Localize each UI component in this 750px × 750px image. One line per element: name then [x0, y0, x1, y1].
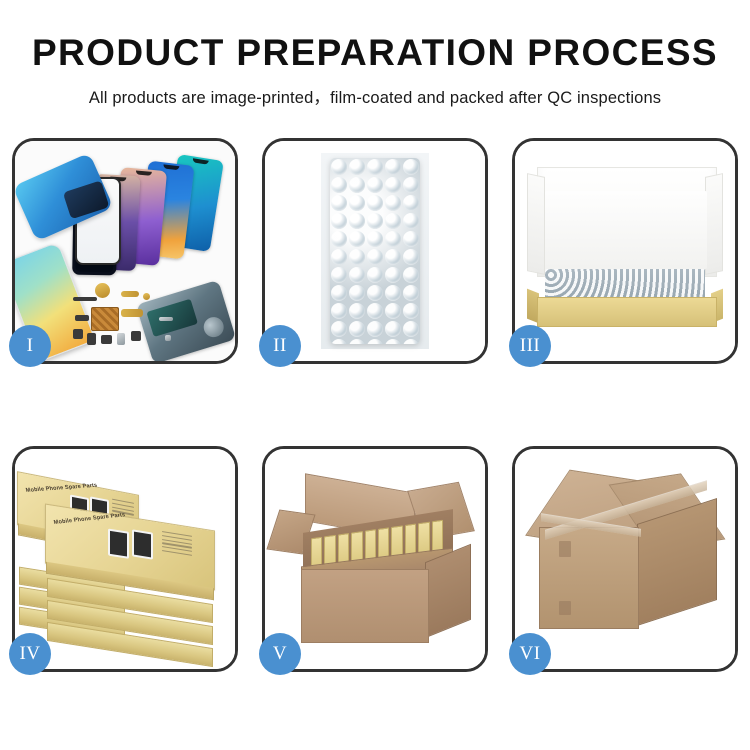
process-step-panel-4: Mobile Phone Spare Parts [12, 446, 238, 672]
bubble-cell [385, 321, 401, 337]
scene-open-carton [265, 449, 485, 669]
process-step-panel-5: V [262, 446, 488, 672]
bubble-cell [349, 249, 365, 265]
notch-icon [163, 164, 179, 170]
bubble-wrapped-contents [545, 269, 705, 299]
phone-thumbnail-icon [108, 529, 129, 559]
step-badge-6: VI [509, 633, 551, 675]
process-step-panel-1: I [12, 138, 238, 364]
bubble-cell [367, 285, 383, 301]
screw-part-icon [165, 335, 171, 341]
bubble-cell [367, 159, 383, 175]
bubble-cell [385, 213, 401, 229]
bubble-grid [330, 158, 420, 344]
bubble-cell [331, 177, 347, 193]
process-step-panel-3: III [512, 138, 738, 364]
speaker-mesh-icon [131, 331, 141, 341]
process-step-panel-2: II [262, 138, 488, 364]
bubble-cell [367, 177, 383, 193]
bubble-cell [331, 303, 347, 319]
scene-open-box [515, 141, 735, 361]
carton-tab-icon [559, 541, 571, 557]
bubble-cell [403, 195, 419, 211]
carton-tab-icon [559, 601, 571, 615]
bubble-cell [349, 285, 365, 301]
flex-cable-icon [121, 291, 139, 297]
bubble-cell [385, 231, 401, 247]
bubble-cell [403, 267, 419, 283]
bubble-cell [403, 321, 419, 337]
bubble-cell [403, 339, 419, 344]
bubble-cell [331, 267, 347, 283]
bubble-cell [385, 267, 401, 283]
box-spec-lines [162, 531, 192, 558]
bubble-cell [385, 285, 401, 301]
bubble-cell [331, 231, 347, 247]
chip-array-icon [91, 307, 119, 331]
box-base-front [537, 297, 717, 327]
speaker-part-icon [95, 283, 110, 298]
panel-image-1 [15, 141, 235, 361]
screw-part-icon [159, 317, 173, 321]
bubble-cell [367, 213, 383, 229]
panel-image-4: Mobile Phone Spare Parts [15, 449, 235, 669]
earpiece-part-icon [73, 297, 97, 301]
bubble-cell [331, 195, 347, 211]
retail-box-top-right: Mobile Phone Spare Parts [45, 504, 215, 591]
step-badge-4: IV [9, 633, 51, 675]
bubble-cell [385, 177, 401, 193]
bubble-cell [349, 267, 365, 283]
bubble-cell [403, 213, 419, 229]
bubble-cell [349, 159, 365, 175]
box-lid-flap-left [527, 173, 545, 275]
panel-image-5 [265, 449, 485, 669]
sim-tray-icon [117, 333, 125, 345]
bubble-cell [367, 267, 383, 283]
connector-part-icon [75, 315, 89, 321]
scene-bubble-wrap [265, 141, 485, 361]
bubble-cell [403, 285, 419, 301]
button-part-icon [143, 293, 150, 300]
panel-image-3 [515, 141, 735, 361]
bubble-cell [367, 249, 383, 265]
bubble-cell [331, 159, 347, 175]
infographic-page: PRODUCT PREPARATION PROCESS All products… [0, 0, 750, 750]
bubble-cell [403, 249, 419, 265]
bubble-cell [367, 231, 383, 247]
camera-part-icon [73, 329, 83, 339]
notch-icon [192, 158, 208, 164]
scene-stacked-boxes: Mobile Phone Spare Parts [15, 449, 235, 669]
bubble-cell [331, 321, 347, 337]
bubble-cell [385, 339, 401, 344]
page-subtitle: All products are image-printed，film-coat… [0, 75, 750, 108]
bubble-cell [403, 303, 419, 319]
panel-image-6 [515, 449, 735, 669]
bubble-cell [349, 177, 365, 193]
phone-thumbnail-icon [132, 529, 153, 559]
notch-icon [136, 170, 152, 175]
bubble-cell [385, 303, 401, 319]
foam-insert [545, 191, 707, 269]
step-badge-1: I [9, 325, 51, 367]
page-title: PRODUCT PREPARATION PROCESS [0, 0, 750, 75]
flex-cable-icon [121, 309, 143, 317]
bubble-cell [349, 213, 365, 229]
bubble-wrap-pouch-icon [330, 158, 420, 344]
bubble-cell [331, 339, 347, 344]
header: PRODUCT PREPARATION PROCESS All products… [0, 0, 750, 108]
bubble-cell [367, 195, 383, 211]
process-step-grid: I [12, 138, 738, 672]
bubble-cell [331, 249, 347, 265]
bubble-cell [403, 177, 419, 193]
carton-front-face [301, 569, 429, 643]
bubble-cell [385, 249, 401, 265]
bubble-cell [403, 231, 419, 247]
sensor-part-icon [101, 335, 112, 344]
bubble-cell [367, 303, 383, 319]
process-step-panel-6: VI [512, 446, 738, 672]
bubble-cell [367, 321, 383, 337]
step-badge-2: II [259, 325, 301, 367]
panel-image-2 [265, 141, 485, 361]
bubble-cell [403, 159, 419, 175]
bubble-cell [349, 339, 365, 344]
bubble-cell [349, 321, 365, 337]
spare-parts-cluster [73, 283, 183, 355]
carton-front-face [539, 527, 639, 629]
vibrator-part-icon [87, 333, 96, 345]
bubble-cell [349, 231, 365, 247]
bubble-cell [331, 285, 347, 301]
bubble-cell [367, 339, 383, 344]
bubble-cell [385, 195, 401, 211]
box-lid-flap-right [705, 173, 723, 275]
scene-phone-parts [15, 141, 235, 361]
scene-sealed-carton [515, 449, 735, 669]
bubble-cell [349, 303, 365, 319]
step-badge-3: III [509, 325, 551, 367]
bubble-cell [385, 159, 401, 175]
bubble-cell [331, 213, 347, 229]
bubble-cell [349, 195, 365, 211]
step-badge-5: V [259, 633, 301, 675]
